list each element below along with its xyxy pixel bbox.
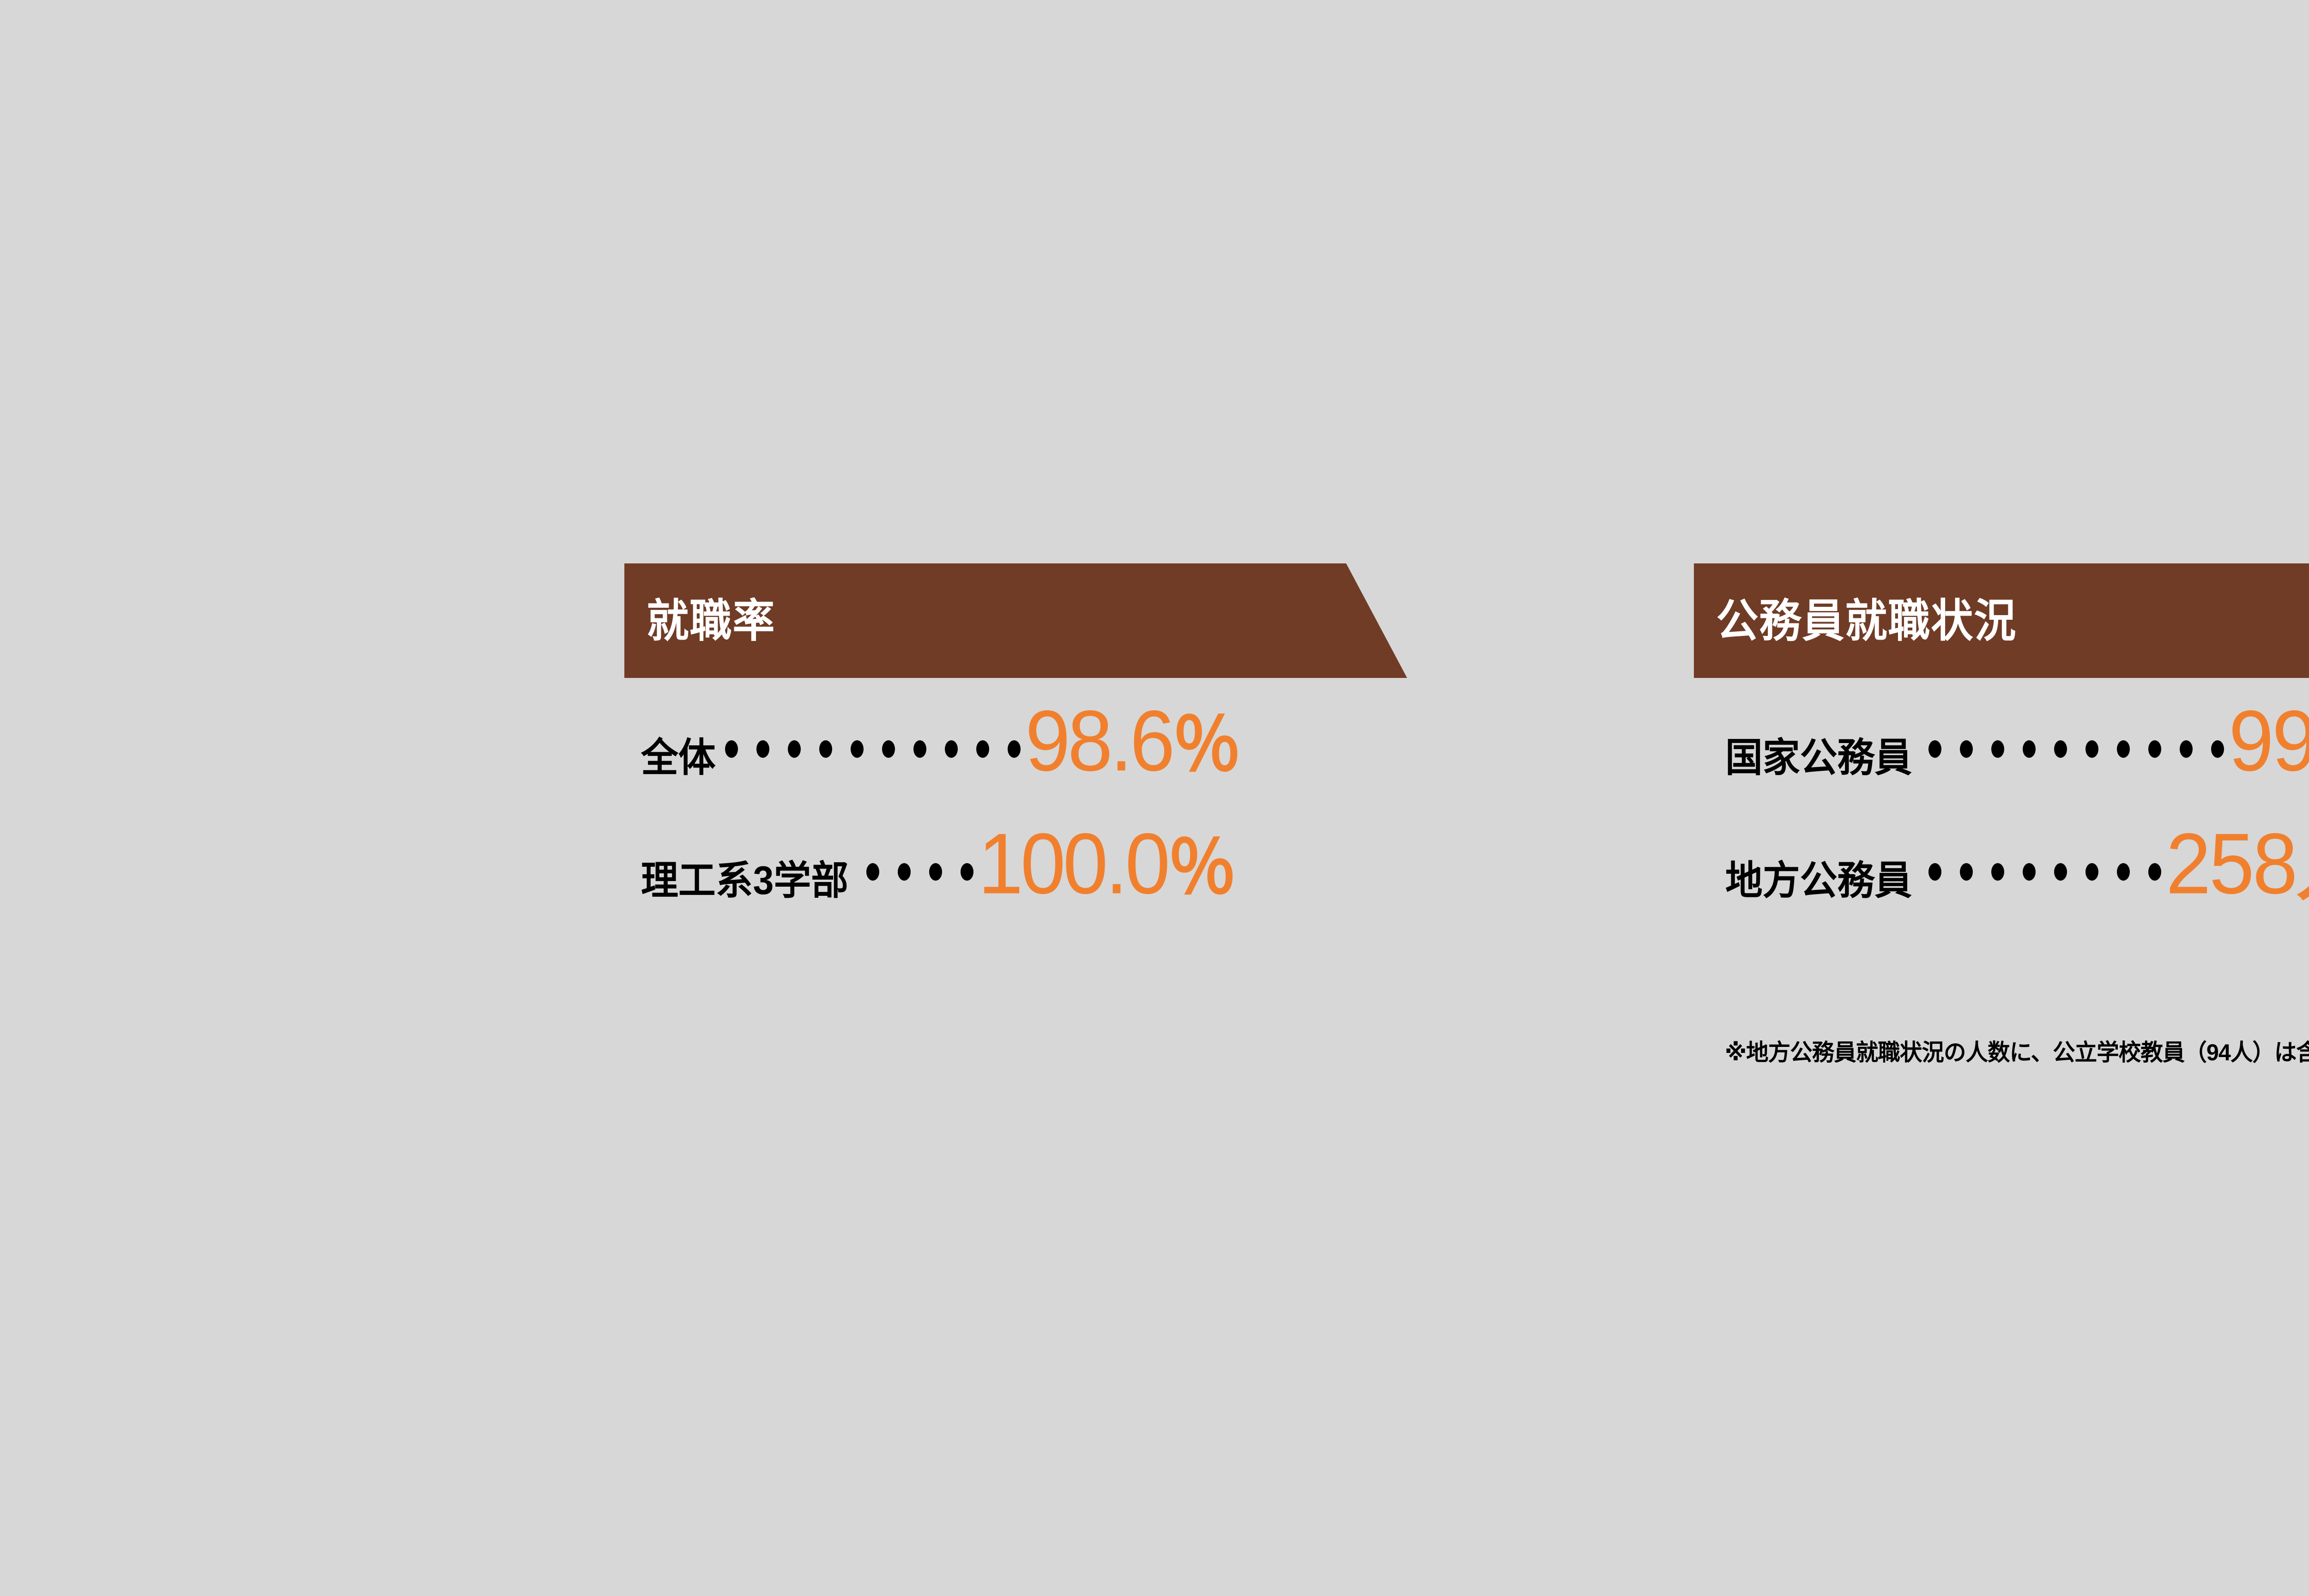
panel-public-servant-employment: 公務員就職状況 国家公務員 99人 地方公務員 258人	[1694, 563, 2309, 918]
leader-dot	[2054, 863, 2067, 881]
banner-title-employment-rate: 就職率	[624, 598, 775, 643]
leader-dot	[929, 863, 942, 881]
stat-row-label: 理工系3学部	[641, 861, 848, 901]
leader-dot	[2085, 740, 2098, 758]
stat-row-label: 国家公務員	[1725, 738, 1912, 778]
leader-dot	[1928, 863, 1941, 881]
leader-dot	[788, 740, 801, 758]
leader-dot	[851, 740, 864, 758]
leader-dot	[1991, 740, 2004, 758]
leader-dot	[945, 740, 958, 758]
stat-row-value: 258	[2166, 821, 2296, 907]
leader-dot	[2117, 740, 2130, 758]
leader-dot	[961, 863, 973, 881]
stat-row: 地方公務員 258人	[1694, 826, 2309, 918]
leader-dot	[1960, 863, 1973, 881]
leader-dot	[2023, 863, 2036, 881]
stat-row-unit: ％	[1173, 708, 1242, 782]
panel-employment-rate: 就職率 全体 98.6％ 理工系3学部 100.0％	[624, 563, 1686, 918]
leader-dot	[898, 863, 911, 881]
stat-row-value: 100.0	[978, 821, 1167, 907]
leader-dot	[1008, 740, 1021, 758]
stat-row-label: 全体	[641, 738, 716, 778]
leader-dot	[913, 740, 926, 758]
leader-dot	[819, 740, 832, 758]
dot-leader	[725, 703, 1021, 795]
leader-dot	[1928, 740, 1941, 758]
leader-dot	[2211, 740, 2224, 758]
infographic-stage: 就職率 全体 98.6％ 理工系3学部 100.0％ 公務員就職状況	[0, 0, 2309, 1596]
leader-dot	[2054, 740, 2067, 758]
leader-dot	[2117, 863, 2130, 881]
stat-row: 国家公務員 99人	[1694, 703, 2309, 795]
leader-dot	[866, 863, 879, 881]
leader-dot	[2085, 863, 2098, 881]
dot-leader	[1928, 826, 2161, 918]
leader-dot	[976, 740, 989, 758]
stat-row: 全体 98.6％	[624, 703, 1686, 795]
banner-employment-rate: 就職率	[624, 563, 1407, 678]
leader-dot	[2148, 863, 2161, 881]
leader-dot	[2180, 740, 2193, 758]
leader-dot	[1960, 740, 1973, 758]
dot-leader	[1928, 703, 2224, 795]
leader-dot	[2148, 740, 2161, 758]
leader-dot	[725, 740, 738, 758]
dot-leader	[866, 826, 973, 918]
leader-dot	[1991, 863, 2004, 881]
stat-row-unit: 人	[2296, 831, 2309, 905]
leader-dot	[2023, 740, 2036, 758]
banner-public-servant-employment: 公務員就職状況	[1694, 563, 2309, 678]
stat-rows-public-servant-employment: 国家公務員 99人 地方公務員 258人	[1694, 703, 2309, 918]
stat-row: 理工系3学部 100.0％	[624, 826, 1686, 918]
footnote-public-servant: ※地方公務員就職状況の人数に、公立学校教員（94人）は含まない	[1725, 1040, 2309, 1065]
stat-row-unit: ％	[1167, 831, 1237, 905]
leader-dot	[882, 740, 895, 758]
leader-dot	[756, 740, 769, 758]
banner-title-public-servant-employment: 公務員就職状況	[1694, 598, 2017, 643]
stat-row-value: 99	[2229, 698, 2309, 784]
stat-row-value: 98.6	[1025, 698, 1173, 784]
stat-row-label: 地方公務員	[1725, 861, 1912, 901]
stat-rows-employment-rate: 全体 98.6％ 理工系3学部 100.0％	[624, 703, 1686, 918]
